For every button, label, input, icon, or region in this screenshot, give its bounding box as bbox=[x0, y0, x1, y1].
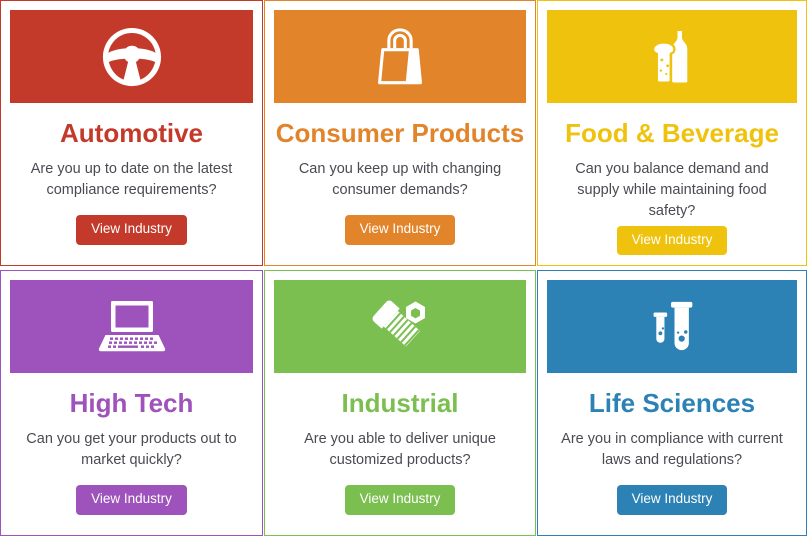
card-banner bbox=[10, 10, 253, 103]
card-banner bbox=[547, 280, 797, 373]
view-industry-button[interactable]: View Industry bbox=[76, 485, 187, 515]
card-banner bbox=[10, 280, 253, 373]
view-industry-button[interactable]: View Industry bbox=[345, 215, 456, 245]
card-banner bbox=[274, 10, 526, 103]
card-description: Are you in compliance with current laws … bbox=[547, 429, 797, 471]
card-description: Are you able to deliver unique customize… bbox=[274, 429, 526, 471]
view-industry-button[interactable]: View Industry bbox=[345, 485, 456, 515]
steering-wheel-icon bbox=[101, 26, 163, 88]
card-action-area: View Industry bbox=[547, 222, 797, 265]
industry-card-food-beverage[interactable]: Food & Beverage Can you balance demand a… bbox=[537, 0, 807, 266]
card-banner bbox=[547, 10, 797, 103]
card-action-area: View Industry bbox=[274, 201, 526, 265]
industry-card-automotive[interactable]: Automotive Are you up to date on the lat… bbox=[0, 0, 263, 266]
view-industry-button[interactable]: View Industry bbox=[617, 226, 728, 256]
card-title: Consumer Products bbox=[276, 119, 525, 149]
card-title: Industrial bbox=[341, 389, 458, 419]
card-description: Can you get your products out to market … bbox=[10, 429, 253, 471]
card-title: High Tech bbox=[70, 389, 194, 419]
shopping-bag-icon bbox=[371, 26, 429, 88]
card-action-area: View Industry bbox=[274, 471, 526, 535]
card-title: Food & Beverage bbox=[565, 119, 779, 149]
bolt-and-nut-icon bbox=[367, 296, 433, 358]
industry-card-life-sciences[interactable]: Life Sciences Are you in compliance with… bbox=[537, 270, 807, 536]
view-industry-button[interactable]: View Industry bbox=[617, 485, 728, 515]
card-banner bbox=[274, 280, 526, 373]
laptop-icon bbox=[97, 298, 167, 356]
industry-card-industrial[interactable]: Industrial Are you able to deliver uniqu… bbox=[264, 270, 536, 536]
industry-card-grid: Automotive Are you up to date on the lat… bbox=[0, 0, 807, 538]
view-industry-button[interactable]: View Industry bbox=[76, 215, 187, 245]
card-action-area: View Industry bbox=[10, 201, 253, 265]
card-action-area: View Industry bbox=[10, 471, 253, 535]
card-description: Can you balance demand and supply while … bbox=[547, 159, 797, 222]
card-description: Are you up to date on the latest complia… bbox=[10, 159, 253, 201]
bread-and-bottle-icon bbox=[642, 26, 702, 88]
card-description: Can you keep up with changing consumer d… bbox=[274, 159, 526, 201]
card-title: Life Sciences bbox=[589, 389, 755, 419]
industry-card-consumer-products[interactable]: Consumer Products Can you keep up with c… bbox=[264, 0, 536, 266]
card-title: Automotive bbox=[60, 119, 203, 149]
test-tubes-icon bbox=[644, 296, 700, 358]
card-action-area: View Industry bbox=[547, 471, 797, 535]
industry-card-high-tech[interactable]: High Tech Can you get your products out … bbox=[0, 270, 263, 536]
